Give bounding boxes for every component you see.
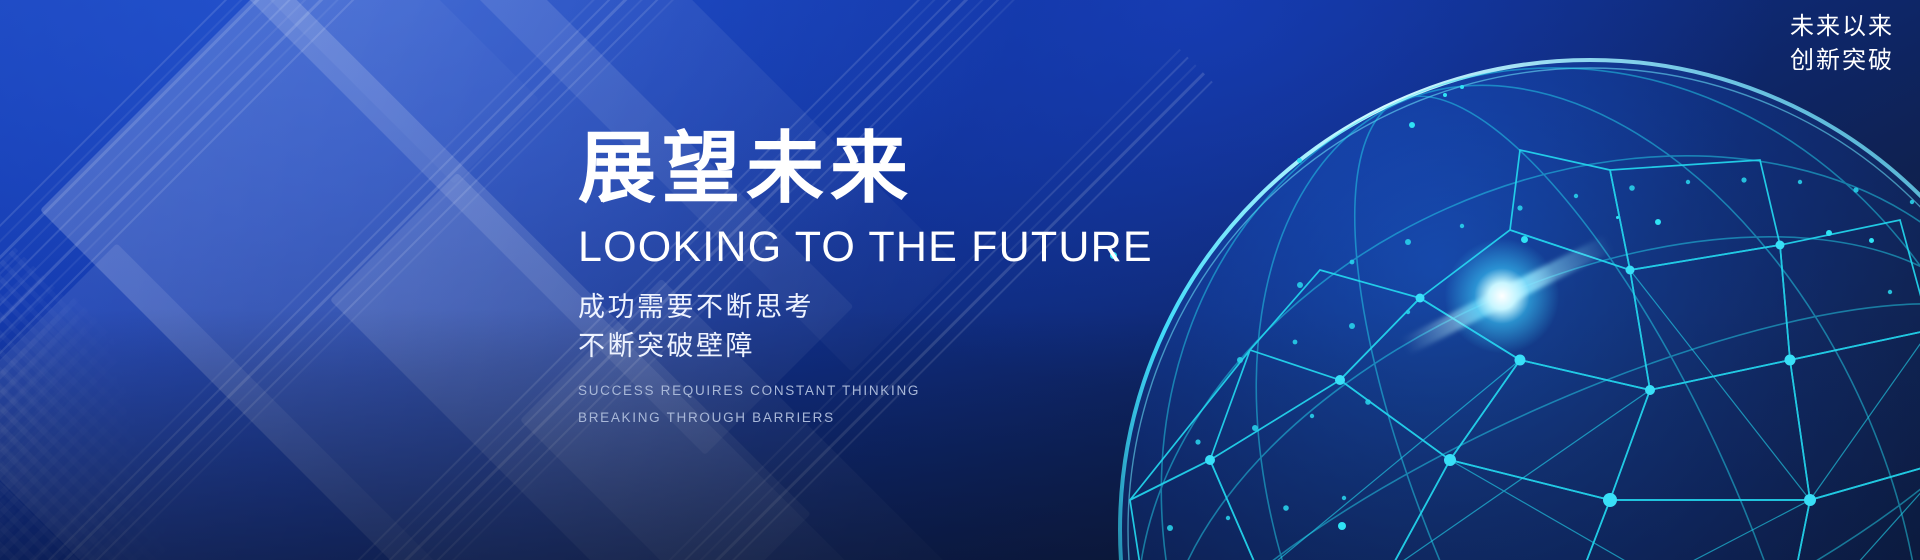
corner-slogan-line-1: 未来以来 [1790,10,1894,44]
particle-dot [1869,238,1874,243]
tagline-chinese-line-2: 不断突破壁障 [578,327,1198,366]
corner-slogan: 未来以来 创新突破 [1790,10,1894,78]
corner-slogan-line-2: 创新突破 [1790,44,1894,78]
tagline-english: SUCCESS REQUIRES CONSTANT THINKING BREAK… [578,378,1198,431]
promo-banner: 展望未来 LOOKING TO THE FUTURE 成功需要不断思考 不断突破… [0,0,1920,560]
particle-dot [1616,216,1619,219]
particle-dot [1409,122,1415,128]
tagline-english-line-2: BREAKING THROUGH BARRIERS [578,405,1198,431]
page-subtitle-english: LOOKING TO THE FUTURE [578,223,1198,272]
page-title: 展望未来 [578,128,1198,209]
headline-block: 展望未来 LOOKING TO THE FUTURE 成功需要不断思考 不断突破… [578,128,1198,431]
particle-dot [1443,93,1447,97]
tagline-english-line-1: SUCCESS REQUIRES CONSTANT THINKING [578,378,1198,404]
tagline-chinese: 成功需要不断思考 不断突破壁障 [578,288,1198,366]
particle-dot [1826,230,1832,236]
particle-dot [1521,236,1528,243]
particle-dot [1297,158,1302,163]
particle-dot [1460,85,1464,89]
tagline-chinese-line-1: 成功需要不断思考 [578,288,1198,327]
particle-dot [1338,522,1346,530]
particle-dot [1655,219,1661,225]
